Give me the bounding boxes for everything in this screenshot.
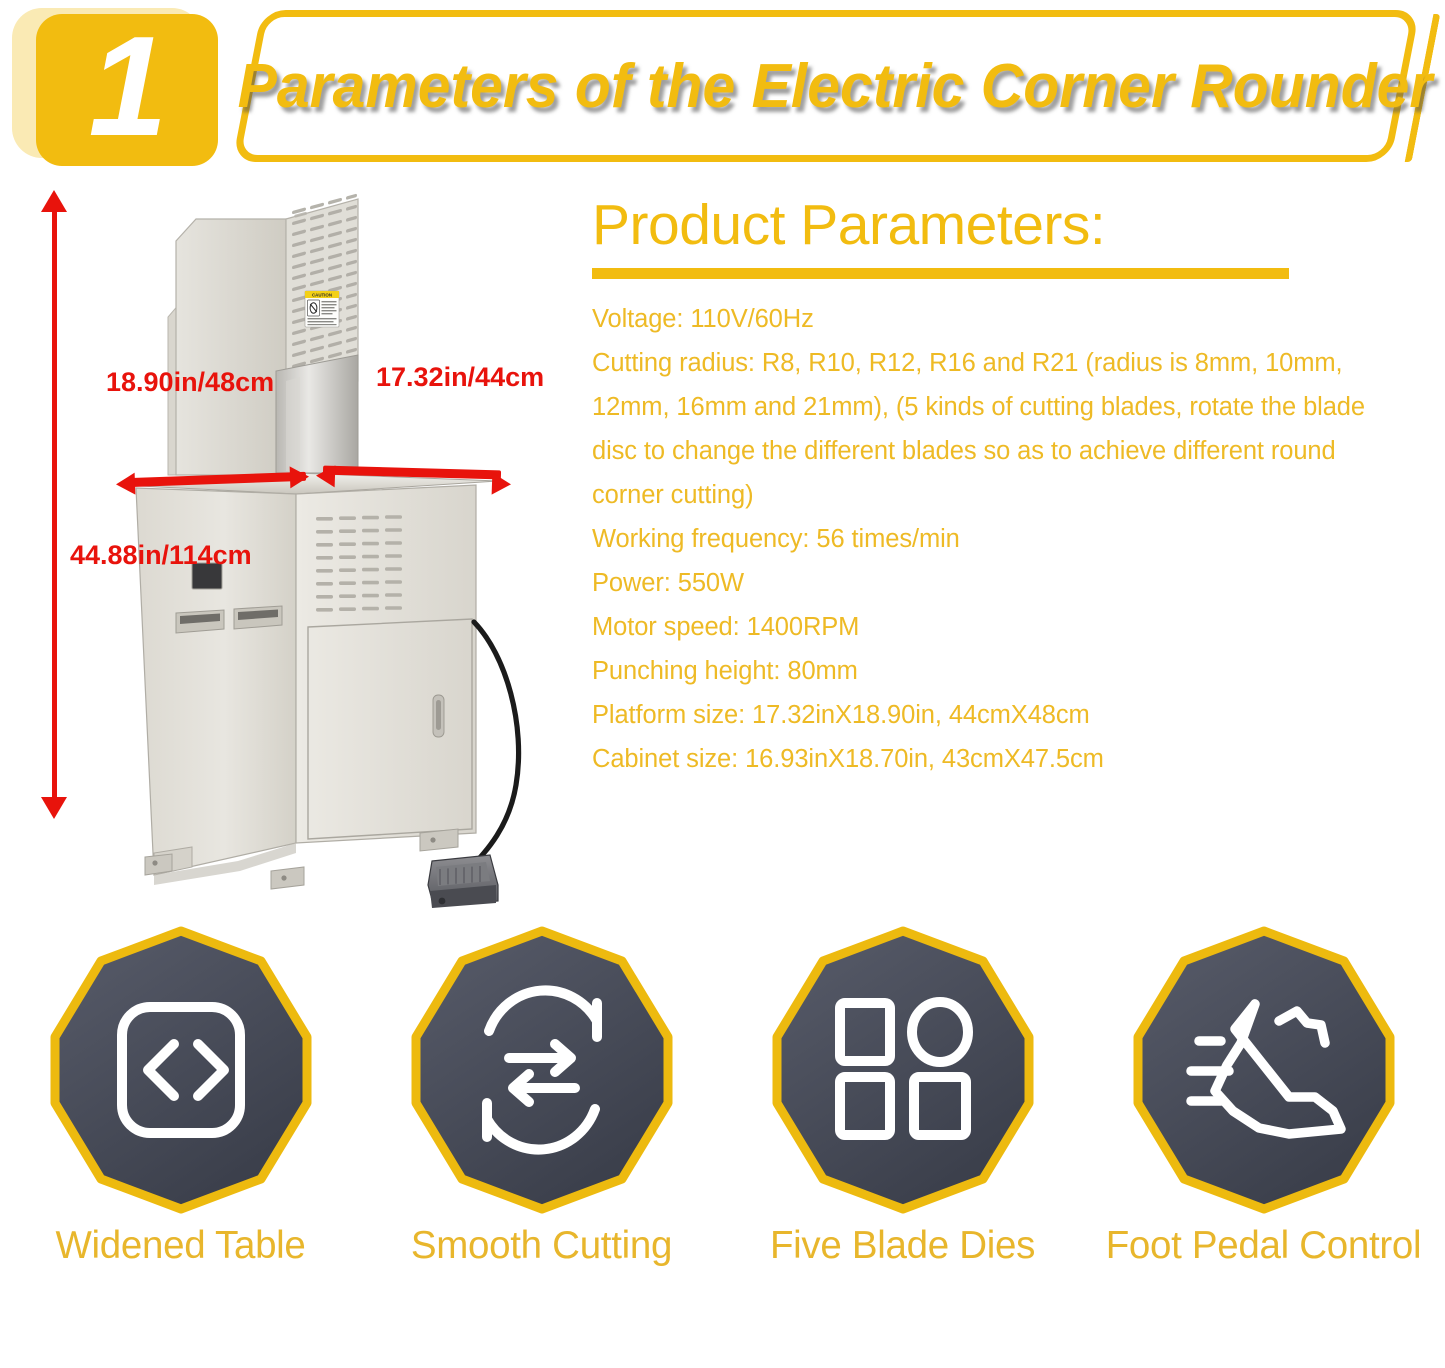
height-dimension-label: 44.88in/114cm <box>70 540 252 571</box>
feature-badge-octagon <box>1129 925 1399 1215</box>
parameter-item: Platform size: 17.32inX18.90in, 44cmX48c… <box>592 693 1432 737</box>
svg-text:CAUTION: CAUTION <box>312 293 332 298</box>
product-infographic: 1 Parameters of the Electric Corner Roun… <box>0 0 1445 1368</box>
height-arrow-down-icon <box>41 797 67 819</box>
step-number-text: 1 <box>36 14 218 166</box>
right-width-arrow-end-icon <box>492 473 512 496</box>
parameter-item: Voltage: 110V/60Hz <box>592 297 1432 341</box>
left-width-dimension-label: 18.90in/48cm <box>106 367 274 398</box>
feature-widened-table: Widened Table <box>0 925 361 1368</box>
feature-label: Five Blade Dies <box>722 1220 1083 1271</box>
feature-smooth-cutting: Smooth Cutting <box>361 925 722 1368</box>
feature-badge-octagon <box>46 925 316 1215</box>
feature-foot-pedal-control: Foot Pedal Control <box>1083 925 1444 1368</box>
left-width-arrow-start-icon <box>116 473 136 496</box>
step-number-badge: 1 <box>36 14 218 166</box>
header-banner: 1 Parameters of the Electric Corner Roun… <box>0 0 1445 178</box>
parameter-item: Cabinet size: 16.93inX18.70in, 43cmX47.5… <box>592 737 1432 781</box>
feature-label: Widened Table <box>0 1220 361 1271</box>
feature-badges-row: Widened Table <box>0 925 1445 1368</box>
right-width-arrow-start-icon <box>316 465 336 488</box>
height-arrow-up-icon <box>41 190 67 212</box>
parameter-item: Working frequency: 56 times/min <box>592 517 1432 561</box>
caution-label: CAUTION <box>305 291 339 327</box>
right-width-dimension-label: 17.32in/44cm <box>376 362 544 393</box>
parameters-heading-underline <box>592 268 1289 279</box>
parameter-item: Punching height: 80mm <box>592 649 1432 693</box>
parameter-item: Motor speed: 1400RPM <box>592 605 1432 649</box>
feature-label: Foot Pedal Control <box>1083 1220 1444 1271</box>
parameters-list: Voltage: 110V/60Hz Cutting radius: R8, R… <box>592 297 1432 781</box>
machine-photo: CAUTION <box>28 185 573 910</box>
product-parameters-section: Product Parameters: Voltage: 110V/60Hz C… <box>592 192 1432 781</box>
parameters-heading: Product Parameters: <box>592 192 1432 258</box>
feature-badge-octagon <box>768 925 1038 1215</box>
height-dimension-line <box>52 207 57 807</box>
left-width-arrow-end-icon <box>290 466 310 489</box>
feature-badge-octagon <box>407 925 677 1215</box>
foot-pedal <box>428 855 498 908</box>
parameter-item: Cutting radius: R8, R10, R12, R16 and R2… <box>592 341 1397 517</box>
page-title: Parameters of the Electric Corner Rounde… <box>284 10 1386 162</box>
feature-label: Smooth Cutting <box>361 1220 722 1271</box>
feature-five-blade-dies: Five Blade Dies <box>722 925 1083 1368</box>
parameter-item: Power: 550W <box>592 561 1432 605</box>
